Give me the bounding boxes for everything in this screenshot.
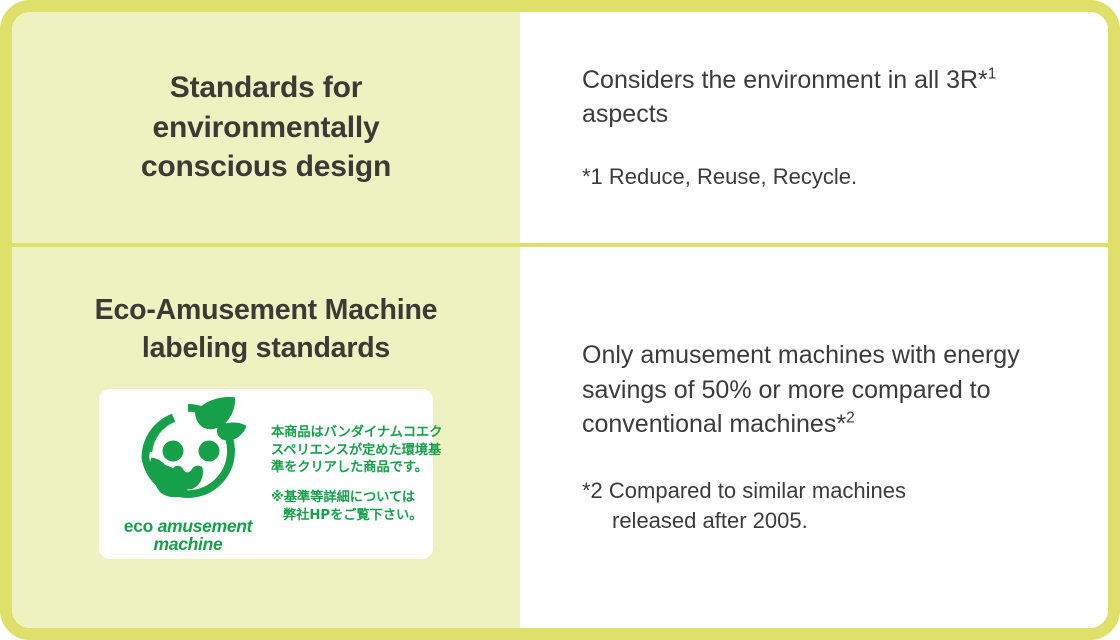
eco-wordmark: eco amusement machine [124, 518, 252, 554]
eco-amusement-label-card: eco amusement machine 本商品はバンダイナムコエクスペリエン… [99, 389, 433, 559]
row2-content-cell: Only amusement machines with energy savi… [520, 247, 1108, 628]
row1-description-text: Considers the environment in all 3R* [582, 66, 988, 94]
row2-footnote: *2 Compared to similar machines released… [520, 476, 1108, 537]
table-row: Eco-Amusement Machine labeling standards [12, 247, 1108, 628]
eco-wordmark-line2: machine [124, 536, 252, 554]
heading-line: Standards for [170, 71, 362, 104]
standards-table: Standards for environmentally conscious … [12, 12, 1108, 628]
eco-leaf-face-icon [125, 395, 251, 517]
row2-footnote-line2: released after 2005. [582, 506, 1084, 536]
row1-description-tail: aspects [582, 100, 668, 128]
section-title: Eco-Amusement Machine labeling standards [95, 292, 438, 367]
eco-label-jp-note: ※基準等詳細については 弊社HPをご覧下さい。 [271, 489, 443, 524]
row2-description-text: Only amusement machines with energy savi… [582, 341, 1020, 438]
row2-description: Only amusement machines with energy savi… [520, 338, 1108, 442]
eco-wordmark-amusement: amusement [153, 516, 252, 536]
eco-wordmark-eco: eco [124, 516, 153, 536]
eco-standards-card: Standards for environmentally conscious … [0, 0, 1120, 640]
row1-label-cell: Standards for environmentally conscious … [12, 12, 520, 243]
page-title: Standards for environmentally conscious … [141, 68, 391, 187]
table-row: Standards for environmentally conscious … [12, 12, 1108, 243]
heading-line: environmentally [152, 111, 379, 144]
eco-label-jp-note-line2: 弊社HPをご覧下さい。 [271, 507, 443, 525]
row1-description: Considers the environment in all 3R*1 as… [520, 63, 1108, 132]
row1-footnote: *1 Reduce, Reuse, Recycle. [520, 162, 1108, 192]
eco-label-jp-paragraph: 本商品はバンダイナムコエクスペリエンスが定めた環境基準をクリアした商品です。 [271, 424, 443, 477]
eco-logo: eco amusement machine [113, 395, 263, 554]
eco-label-japanese-text: 本商品はバンダイナムコエクスペリエンスが定めた環境基準をクリアした商品です。 ※… [263, 424, 443, 524]
row2-footnote-line1: *2 Compared to similar machines [582, 478, 906, 503]
eco-label-jp-note-line1: ※基準等詳細については [271, 490, 415, 505]
row2-label-cell: Eco-Amusement Machine labeling standards [12, 247, 520, 628]
heading-line: Eco-Amusement Machine [95, 294, 438, 326]
footnote-marker-1: 1 [988, 65, 997, 82]
footnote-marker-2: 2 [846, 410, 855, 427]
heading-line: labeling standards [142, 332, 390, 364]
heading-line: conscious design [141, 150, 391, 183]
eco-wordmark-line1: eco amusement [124, 518, 252, 536]
row1-content-cell: Considers the environment in all 3R*1 as… [520, 12, 1108, 243]
